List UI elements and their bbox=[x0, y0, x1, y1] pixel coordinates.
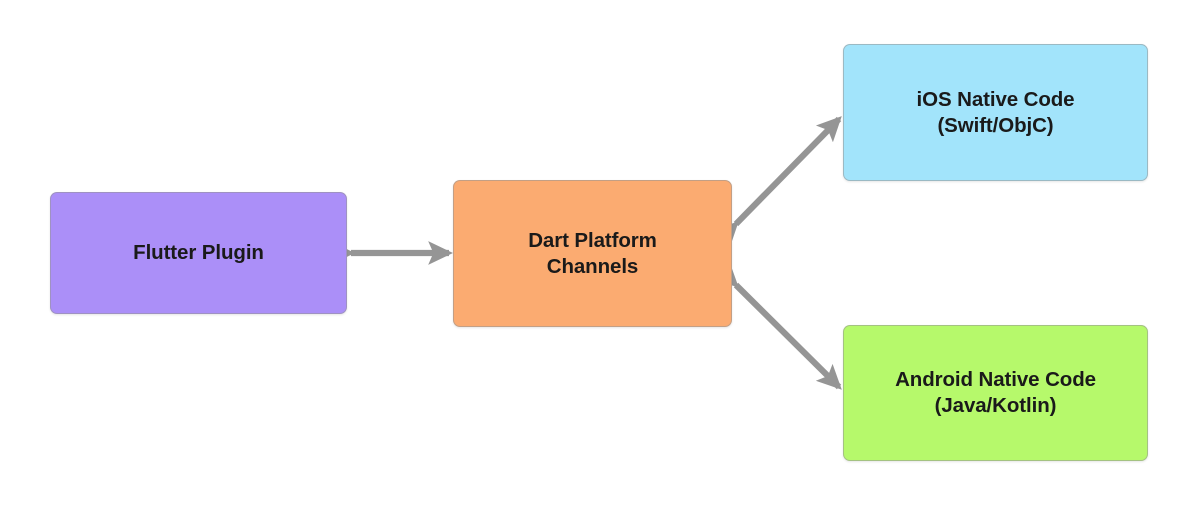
node-android-native-code[interactable]: Android Native Code (Java/Kotlin) bbox=[843, 325, 1148, 461]
node-dart-platform-channels-label: Dart Platform Channels bbox=[520, 228, 665, 280]
node-ios-native-code-label: iOS Native Code (Swift/ObjC) bbox=[909, 87, 1083, 139]
node-ios-native-code[interactable]: iOS Native Code (Swift/ObjC) bbox=[843, 44, 1148, 181]
connector-dart-platform-channels-to-ios-native-code bbox=[736, 119, 839, 224]
connector-dart-platform-channels-to-android-native-code bbox=[736, 285, 839, 387]
node-android-native-code-label: Android Native Code (Java/Kotlin) bbox=[887, 367, 1104, 419]
node-flutter-plugin-label: Flutter Plugin bbox=[125, 240, 272, 266]
node-flutter-plugin[interactable]: Flutter Plugin bbox=[50, 192, 347, 314]
node-dart-platform-channels[interactable]: Dart Platform Channels bbox=[453, 180, 732, 327]
diagram-canvas: Flutter Plugin Dart Platform Channels iO… bbox=[0, 0, 1200, 510]
